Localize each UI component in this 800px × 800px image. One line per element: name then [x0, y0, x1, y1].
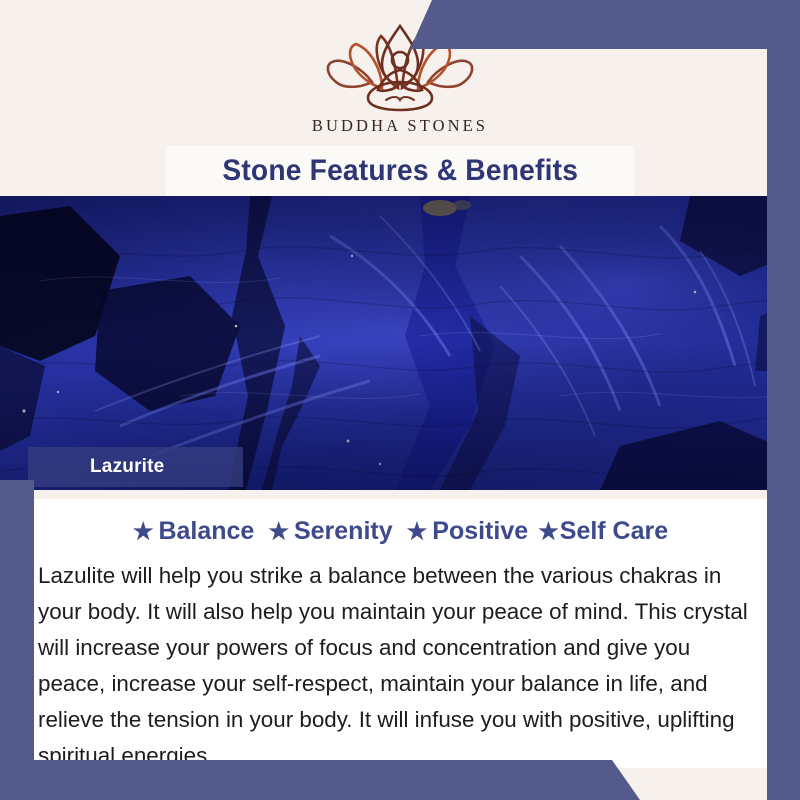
poster: BUDDHA STONES Stone Features & Benefits — [0, 0, 800, 800]
frame-accent-top — [410, 0, 800, 49]
star-icon: ★ — [407, 520, 428, 543]
keyword-item-balance: ★Balance — [133, 517, 255, 546]
star-icon: ★ — [268, 520, 289, 543]
frame-accent-left — [0, 480, 34, 800]
keyword-list: ★Balance ★Serenity ★Positive ★Self Care — [34, 517, 767, 546]
keyword-item-positive: ★Positive — [407, 517, 529, 546]
stone-name-label: Lazurite — [28, 447, 243, 487]
keyword-label: Self Care — [560, 517, 668, 546]
content-panel: ★Balance ★Serenity ★Positive ★Self Care … — [34, 490, 767, 768]
stone-name-text: Lazurite — [90, 456, 164, 478]
stone-photo — [0, 196, 800, 490]
page-title: Stone Features & Benefits — [222, 154, 578, 188]
star-icon: ★ — [133, 520, 154, 543]
description-text: Lazulite will help you strike a balance … — [38, 558, 753, 774]
keyword-item-serenity: ★Serenity — [268, 517, 392, 546]
star-icon: ★ — [538, 520, 559, 543]
frame-accent-bottom — [0, 760, 640, 800]
stone-photo-image — [0, 196, 800, 490]
title-band: Stone Features & Benefits — [166, 146, 634, 196]
brand-name: BUDDHA STONES — [312, 116, 488, 136]
panel-top-divider — [34, 490, 767, 499]
keyword-label: Serenity — [294, 517, 393, 546]
keyword-label: Balance — [158, 517, 254, 546]
frame-accent-right — [767, 0, 800, 800]
keyword-label: Positive — [432, 517, 528, 546]
keyword-item-self-care: ★Self Care — [538, 517, 668, 546]
